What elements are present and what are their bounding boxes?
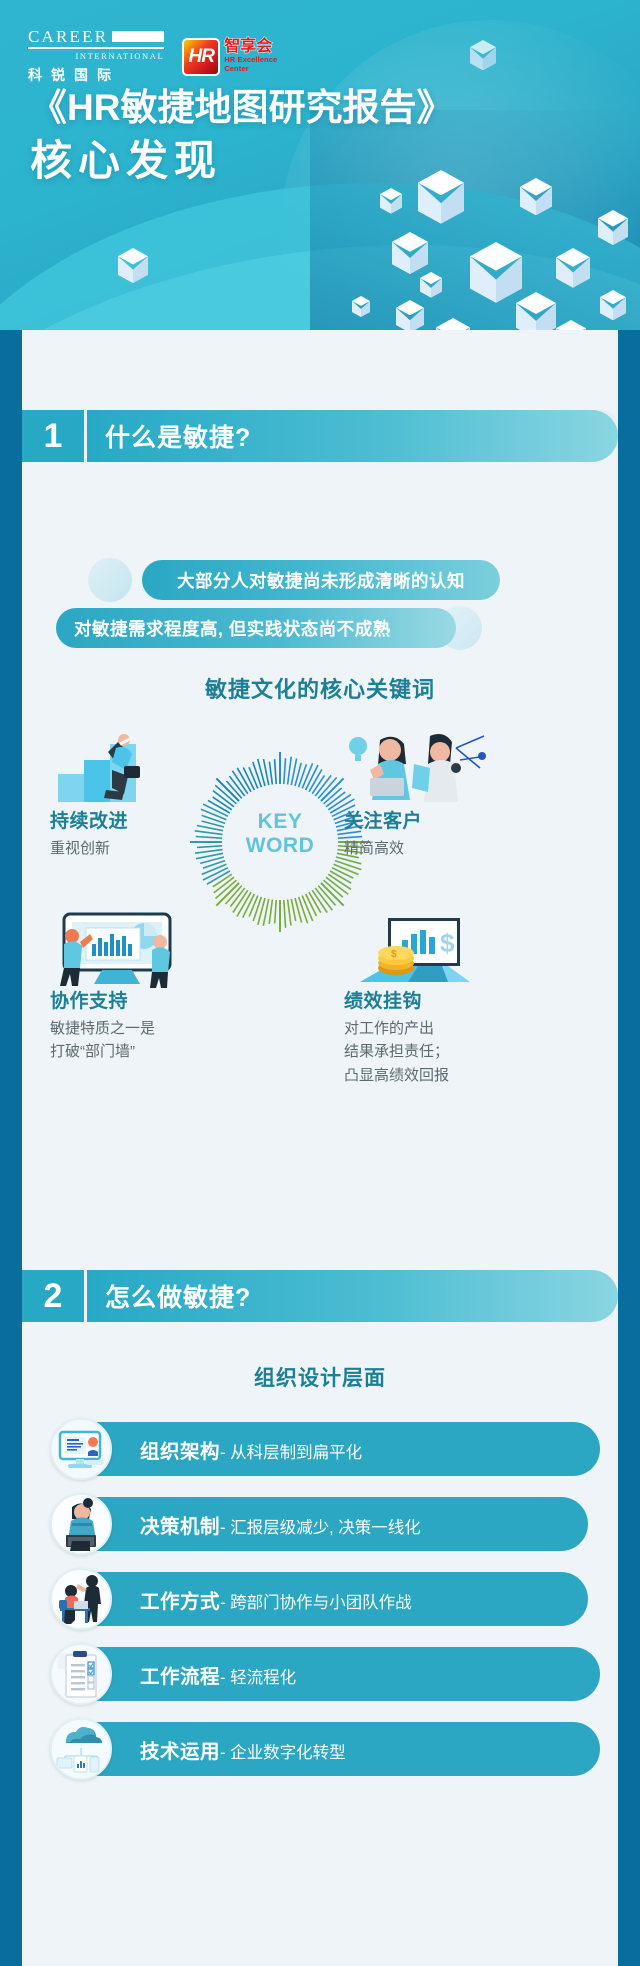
practice-row-desc-3: - 跨部门协作与小团队作战	[220, 1594, 412, 1612]
section-2-title: 怎么做敏捷?	[87, 1270, 618, 1322]
pill-1-dot-icon	[88, 558, 132, 602]
keyword-item-4-desc: 对工作的产出 结果承担责任； 凸显高绩效回报	[344, 1017, 534, 1087]
cloud-devices-icon	[50, 1718, 112, 1780]
presentation-chart-icon	[50, 910, 240, 982]
practice-row-desc-1: - 从科层制到扁平化	[220, 1444, 362, 1462]
keyword-item-1-desc: 重视创新	[50, 837, 240, 860]
section-card-2: 2 怎么做敏捷? 组织设计层面 组织架构- 从科层制到扁平化	[22, 1270, 618, 1966]
hr-logo-en-line2: Center	[224, 65, 277, 74]
list-item[interactable]: 组织架构- 从科层制到扁平化	[22, 1418, 618, 1480]
practice-row-bar-2[interactable]: 决策机制- 汇报层级减少, 决策一线化	[58, 1497, 588, 1551]
keyword-item-1: 持续改进 重视创新	[50, 730, 240, 860]
infographic-page: CAREER INTERNATIONAL 科锐国际 HR 智享会 HR Exce…	[0, 0, 640, 1966]
practice-row-text-3: 工作方式- 跨部门协作与小团队作战	[140, 1585, 412, 1614]
page-title: 《HR敏捷地图研究报告》 核心发现	[30, 85, 453, 188]
section-2-number: 2	[22, 1270, 84, 1322]
finding-pill-1: 大部分人对敏捷尚未形成清晰的认知	[142, 560, 500, 600]
finding-pill-2: 对敏捷需求程度高, 但实践状态尚不成熟	[56, 608, 456, 648]
section-1-title: 什么是敏捷?	[87, 410, 618, 462]
practice-row-bar-5[interactable]: 技术运用- 企业数字化转型	[58, 1722, 600, 1776]
section-2-subheading: 组织设计层面	[22, 1362, 618, 1392]
practice-row-bar-1[interactable]: 组织架构- 从科层制到扁平化	[58, 1422, 600, 1476]
practice-row-text-1: 组织架构- 从科层制到扁平化	[140, 1435, 362, 1464]
practice-row-label-3: 工作方式	[140, 1591, 220, 1613]
keyword-item-2: 关注客户 精简高效	[344, 730, 534, 860]
hr-badge-label: HR	[189, 46, 214, 68]
career-logo-international: INTERNATIONAL	[28, 47, 164, 61]
keyword-item-2-desc: 精简高效	[344, 837, 534, 860]
keyword-cluster: KEY WORD	[22, 730, 618, 1190]
checklist-icon	[50, 1643, 112, 1705]
career-logo-bar	[112, 31, 164, 42]
practice-row-desc-4: - 轻流程化	[220, 1669, 296, 1687]
list-item[interactable]: 工作流程- 轻流程化	[22, 1643, 618, 1705]
woman-laptop-icon	[50, 1493, 112, 1555]
keyword-item-2-title: 关注客户	[344, 806, 534, 833]
desktop-monitor-icon	[50, 1418, 112, 1480]
practice-row-desc-5: - 企业数字化转型	[220, 1744, 346, 1762]
page-title-line2: 核心发现	[30, 135, 453, 188]
practice-row-text-2: 决策机制- 汇报层级减少, 决策一线化	[140, 1510, 421, 1539]
list-item[interactable]: 技术运用- 企业数字化转型	[22, 1718, 618, 1780]
keyword-item-3-desc: 敏捷特质之一是 打破“部门墙”	[50, 1017, 240, 1064]
career-logo-word: CAREER	[28, 28, 108, 45]
section-2-header: 2 怎么做敏捷?	[22, 1270, 618, 1322]
hr-excellence-center-logo: HR 智享会 HR Excellence Center	[182, 38, 277, 76]
hr-logo-text: 智享会 HR Excellence Center	[224, 39, 277, 73]
svg-text:$: $	[440, 928, 455, 958]
section-1-number: 1	[22, 410, 84, 462]
practice-row-list: 组织架构- 从科层制到扁平化	[22, 1418, 618, 1793]
practice-row-label-1: 组织架构	[140, 1441, 220, 1463]
practice-row-text-4: 工作流程- 轻流程化	[140, 1660, 296, 1689]
practice-row-label-4: 工作流程	[140, 1666, 220, 1688]
left-rail	[0, 300, 22, 1966]
page-title-line1: 《HR敏捷地图研究报告》	[30, 85, 453, 131]
practice-row-bar-4[interactable]: 工作流程- 轻流程化	[58, 1647, 600, 1701]
practice-row-label-2: 决策机制	[140, 1516, 220, 1538]
logo-row: CAREER INTERNATIONAL 科锐国际 HR 智享会 HR Exce…	[28, 28, 277, 85]
two-women-ideas-icon	[344, 730, 534, 802]
section-1-header: 1 什么是敏捷?	[22, 410, 618, 462]
team-meeting-icon	[50, 1568, 112, 1630]
keyword-item-4: $ $ 绩效挂钩 对工作的产出 结果承担责任； 凸显高绩效回报	[344, 910, 534, 1087]
keyword-item-4-title: 绩效挂钩	[344, 986, 534, 1013]
keyword-item-1-title: 持续改进	[50, 806, 240, 833]
practice-row-text-5: 技术运用- 企业数字化转型	[140, 1735, 346, 1764]
keyword-heading: 敏捷文化的核心关键词	[22, 672, 618, 704]
hr-logo-chinese: 智享会	[224, 39, 277, 56]
career-international-logo: CAREER INTERNATIONAL 科锐国际	[28, 28, 164, 85]
keyword-item-3: 协作支持 敏捷特质之一是 打破“部门墙”	[50, 910, 240, 1064]
svg-text:$: $	[391, 949, 397, 960]
list-item[interactable]: 工作方式- 跨部门协作与小团队作战	[22, 1568, 618, 1630]
practice-row-bar-3[interactable]: 工作方式- 跨部门协作与小团队作战	[58, 1572, 588, 1626]
practice-row-desc-2: - 汇报层级减少, 决策一线化	[220, 1519, 421, 1537]
hr-badge-icon: HR	[182, 38, 220, 76]
career-logo-chinese: 科锐国际	[28, 65, 164, 85]
hero-banner: CAREER INTERNATIONAL 科锐国际 HR 智享会 HR Exce…	[0, 0, 640, 330]
section-card-1: 1 什么是敏捷? 大部分人对敏捷尚未形成清晰的认知 对敏捷需求程度高, 但实践状…	[22, 410, 618, 1240]
stairs-climber-icon	[50, 730, 240, 802]
right-rail	[618, 300, 640, 1966]
practice-row-label-5: 技术运用	[140, 1741, 220, 1763]
keyword-item-3-title: 协作支持	[50, 986, 240, 1013]
laptop-coins-icon: $ $	[344, 910, 534, 982]
list-item[interactable]: 决策机制- 汇报层级减少, 决策一线化	[22, 1493, 618, 1555]
